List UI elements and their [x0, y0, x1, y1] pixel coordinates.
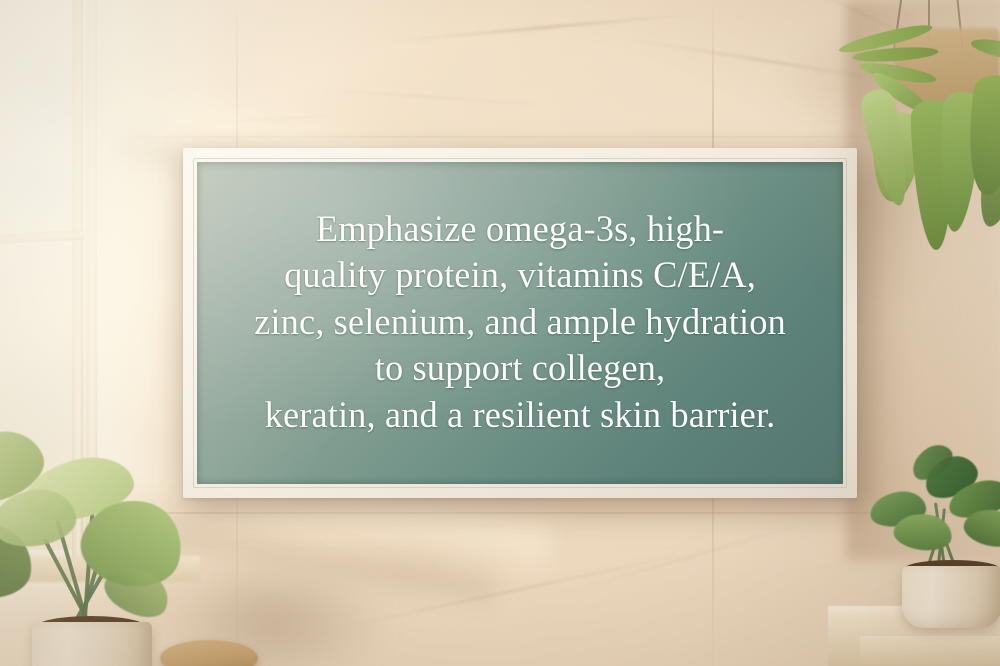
quote-text-block: Emphasize omega-3s, high- quality protei… — [202, 207, 838, 439]
hanging-fern — [846, 0, 1000, 280]
monstera-pot — [32, 622, 152, 666]
quote-line: zinc, selenium, and ample hydration — [210, 300, 831, 346]
quote-line: quality protein, vitamins C/E/A, — [210, 253, 831, 299]
quote-board: Emphasize omega-3s, high- quality protei… — [197, 162, 843, 484]
pedestal-right-lower — [860, 636, 1000, 666]
quote-line: to support collegen, — [210, 346, 831, 392]
potted-plant-right — [880, 448, 1000, 628]
quote-line: Emphasize omega-3s, high- — [210, 207, 831, 253]
marble-blush — [300, 520, 540, 610]
quote-line: keratin, and a resilient skin barrier. — [210, 393, 831, 439]
picture-frame[interactable]: Emphasize omega-3s, high- quality protei… — [183, 148, 857, 498]
right-plant-pot — [902, 566, 1000, 628]
monstera-plant — [0, 430, 200, 666]
scene-root: Emphasize omega-3s, high- quality protei… — [0, 0, 1000, 666]
